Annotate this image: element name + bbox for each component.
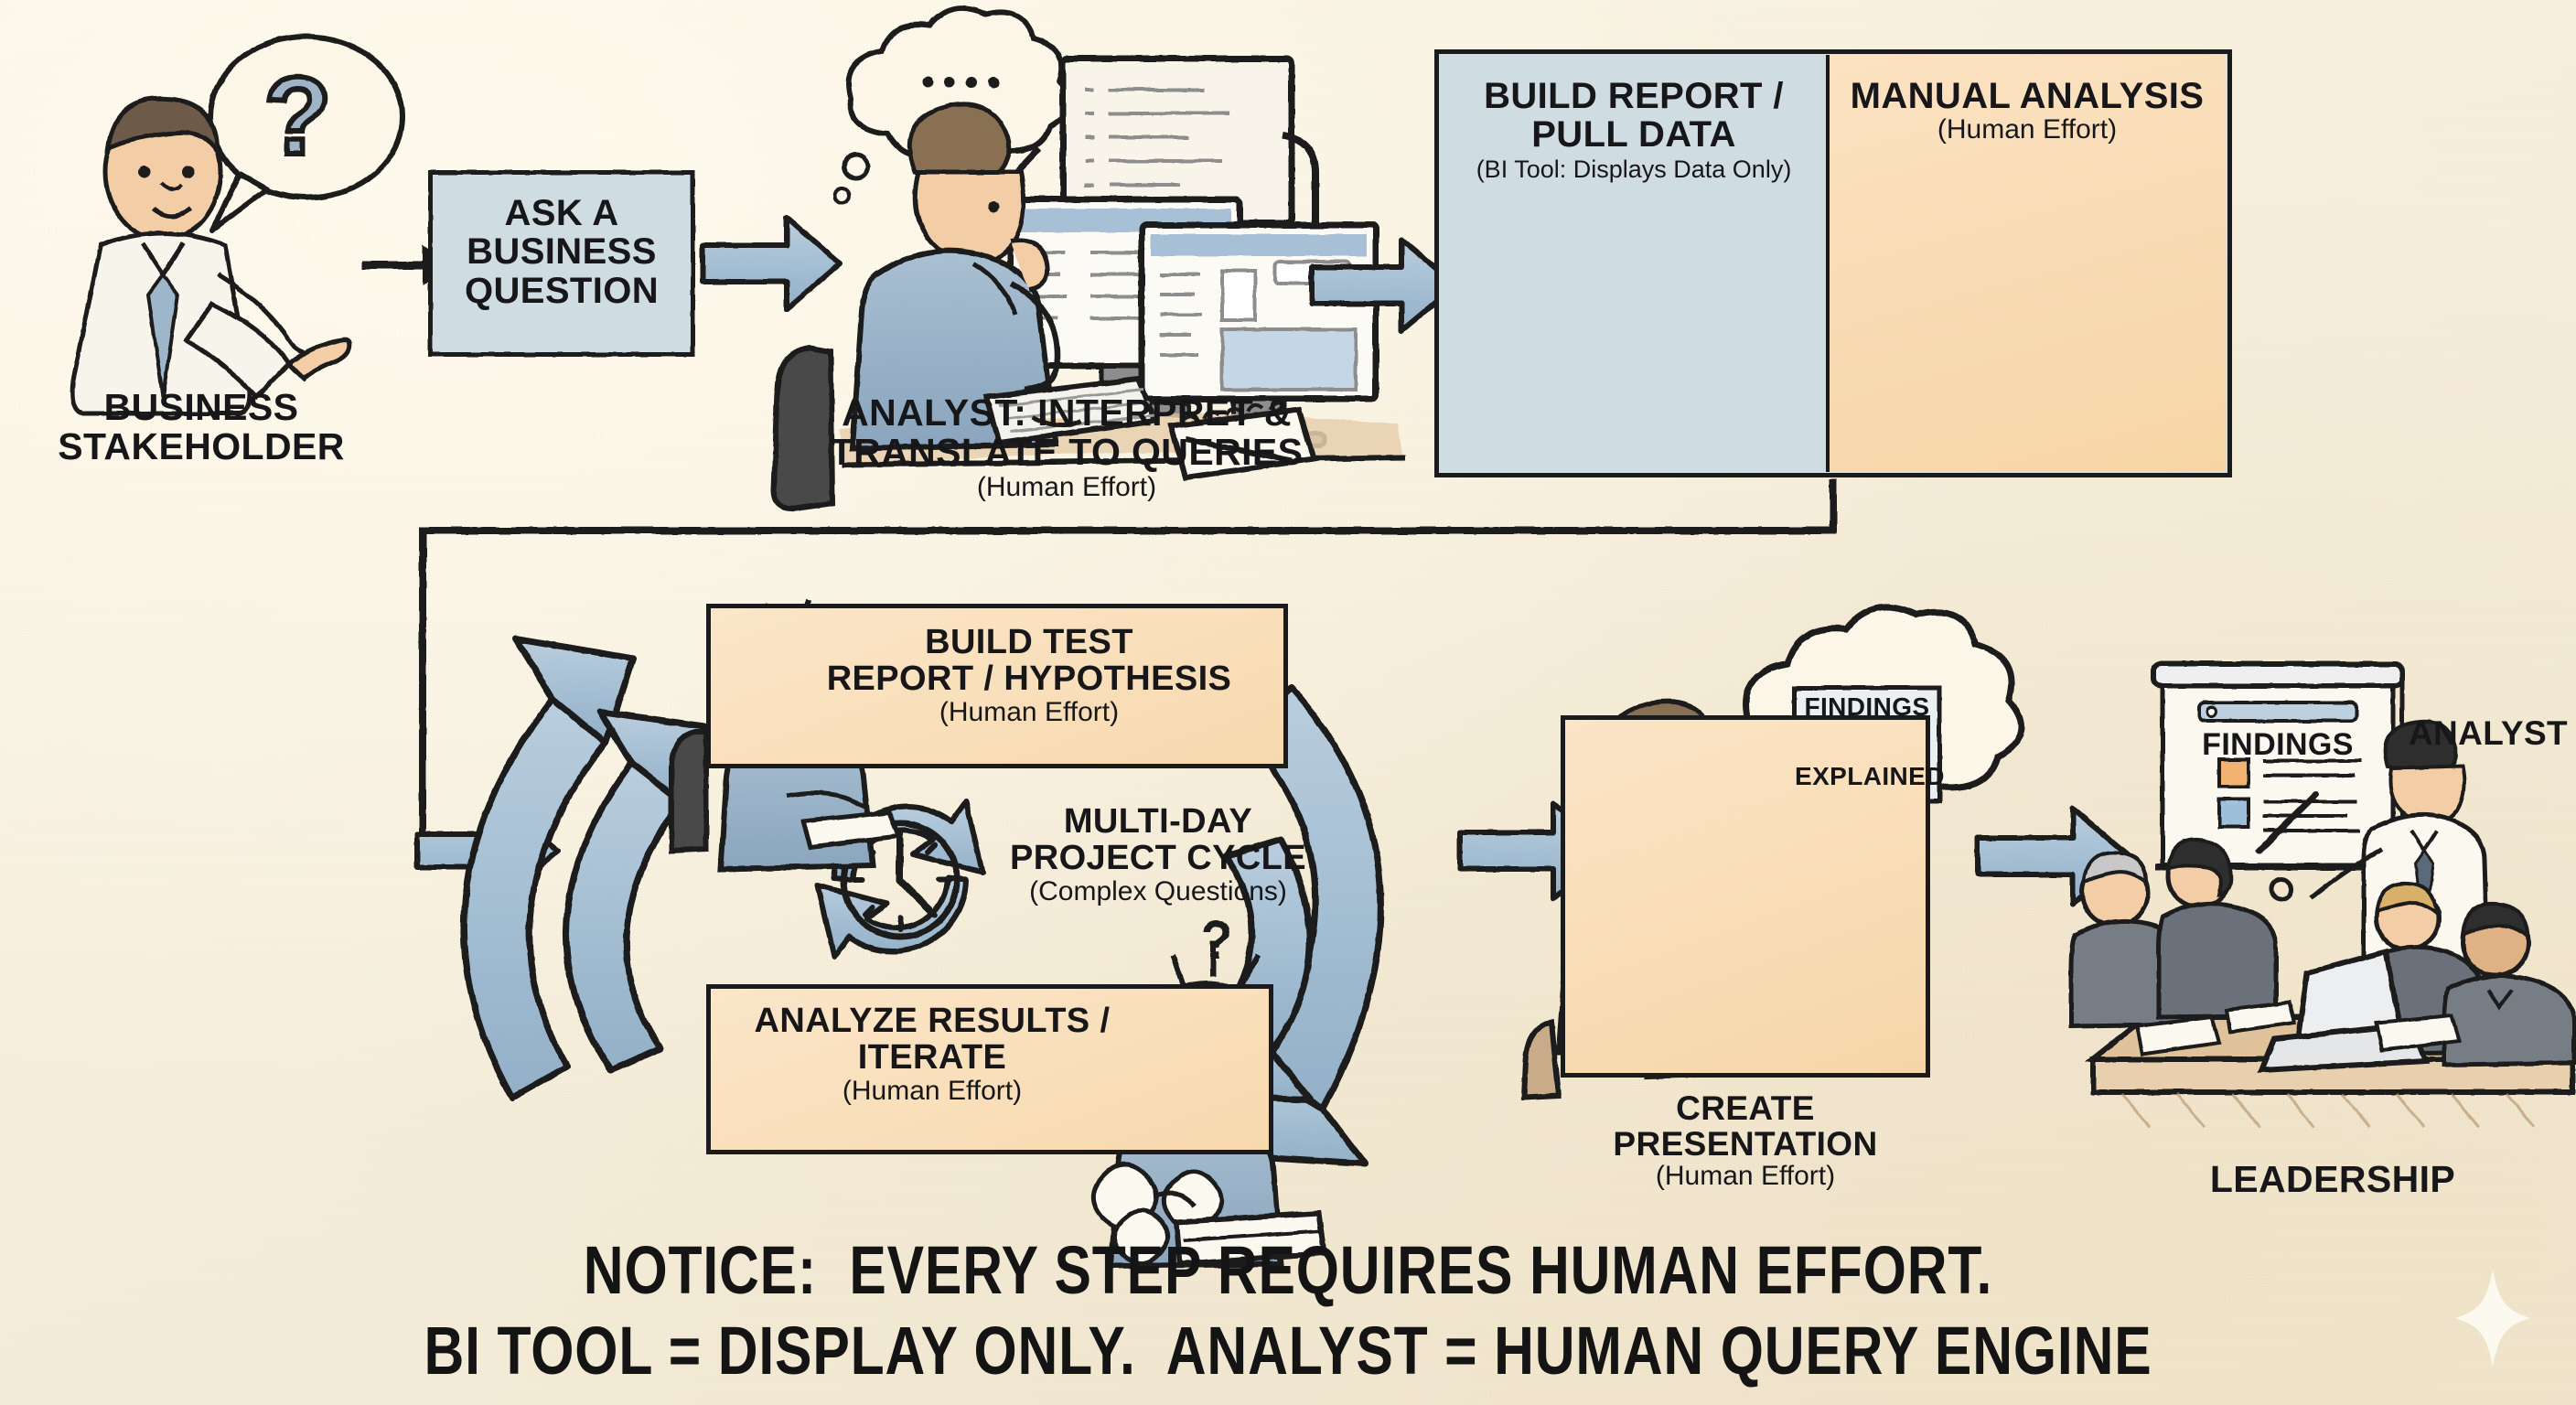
business-stakeholder-illustration: ?: [72, 37, 402, 413]
panel-build-report-title: BUILD REPORT / PULL DATA (BI Tool: Displ…: [1451, 77, 1817, 182]
build-test-line1: BUILD TEST: [925, 623, 1133, 661]
ask-line3: QUESTION: [465, 271, 659, 311]
ask-line1: ASK A: [505, 193, 619, 233]
build-report-subtitle: (BI Tool: Displays Data Only): [1451, 156, 1817, 183]
screen-findings-title: FINDINGS: [2195, 728, 2360, 761]
build-test-line2: REPORT / HYPOTHESIS: [827, 660, 1232, 698]
analyze-line2: ITERATE: [858, 1038, 1007, 1077]
analyst-cap-line2: TRANSLATE TO QUERIES: [831, 431, 1304, 473]
cycle-line2: PROJECT CYCLE: [1010, 839, 1306, 877]
build-report-line1: BUILD REPORT /: [1484, 76, 1784, 116]
create-pres-sub: (Human Effort): [1561, 1162, 1930, 1191]
stakeholder-line2: STAKEHOLDER: [58, 425, 344, 467]
create-pres-line1: CREATE: [1676, 1089, 1815, 1127]
box-ask-business-question-label: ASK A BUSINESS QUESTION: [428, 194, 695, 310]
diagram-canvas: ?: [0, 0, 2576, 1405]
notice-line-1: NOTICE: EVERY STEP REQUIRES HUMAN EFFORT…: [231, 1233, 2344, 1309]
label-analyst-presenter: ANALYST: [2397, 715, 2576, 751]
svg-text:?: ?: [263, 55, 330, 177]
cycle-line1: MULTI-DAY: [1064, 802, 1252, 841]
caption-create-presentation: CREATE PRESENTATION (Human Effort): [1561, 1090, 1930, 1191]
analyze-sub: (Human Effort): [717, 1077, 1147, 1106]
ask-line2: BUSINESS: [467, 231, 657, 272]
notice-line-2: BI TOOL = DISPLAY ONLY. ANALYST = HUMAN …: [231, 1314, 2344, 1389]
analyst-cap-line1: ANALYST: INTERPRET &: [842, 391, 1292, 434]
manual-analysis-subtitle: (Human Effort): [1831, 115, 2223, 145]
cycle-sub: (Complex Questions): [975, 877, 1341, 906]
stakeholder-line1: BUSINESS: [104, 386, 299, 428]
caption-analyst-interpret: ANALYST: INTERPRET & TRANSLATE TO QUERIE…: [783, 393, 1350, 502]
arrow-question-to-analyst: [703, 218, 840, 309]
caption-business-stakeholder: BUSINESS STAKEHOLDER: [18, 388, 384, 467]
manual-analysis-title: MANUAL ANALYSIS: [1851, 76, 2205, 116]
label-leadership: LEADERSHIP: [2131, 1160, 2534, 1199]
panel-divider-line: [1826, 55, 1830, 472]
build-report-line2: PULL DATA: [1531, 114, 1736, 155]
thought-card-explained-footer: EXPLAINED: [1795, 763, 1939, 790]
box-build-test-report-label: BUILD TEST REPORT / HYPOTHESIS (Human Ef…: [770, 624, 1288, 726]
panel-manual-analysis-title: MANUAL ANALYSIS (Human Effort): [1831, 77, 2223, 145]
svg-text:?: ?: [1200, 911, 1232, 971]
create-pres-line2: PRESENTATION: [1613, 1125, 1877, 1163]
box-analyze-results-label: ANALYZE RESULTS / ITERATE (Human Effort): [717, 1003, 1147, 1105]
thought-card-findings-title: FINDINGS: [1795, 693, 1939, 721]
analyst-cap-sub: (Human Effort): [783, 473, 1350, 502]
analyze-line1: ANALYZE RESULTS /: [755, 1002, 1111, 1040]
sparkle-watermark-icon: [2453, 1268, 2532, 1368]
build-test-sub: (Human Effort): [770, 698, 1288, 727]
label-multi-day-project-cycle: MULTI-DAY PROJECT CYCLE (Complex Questio…: [975, 803, 1341, 906]
